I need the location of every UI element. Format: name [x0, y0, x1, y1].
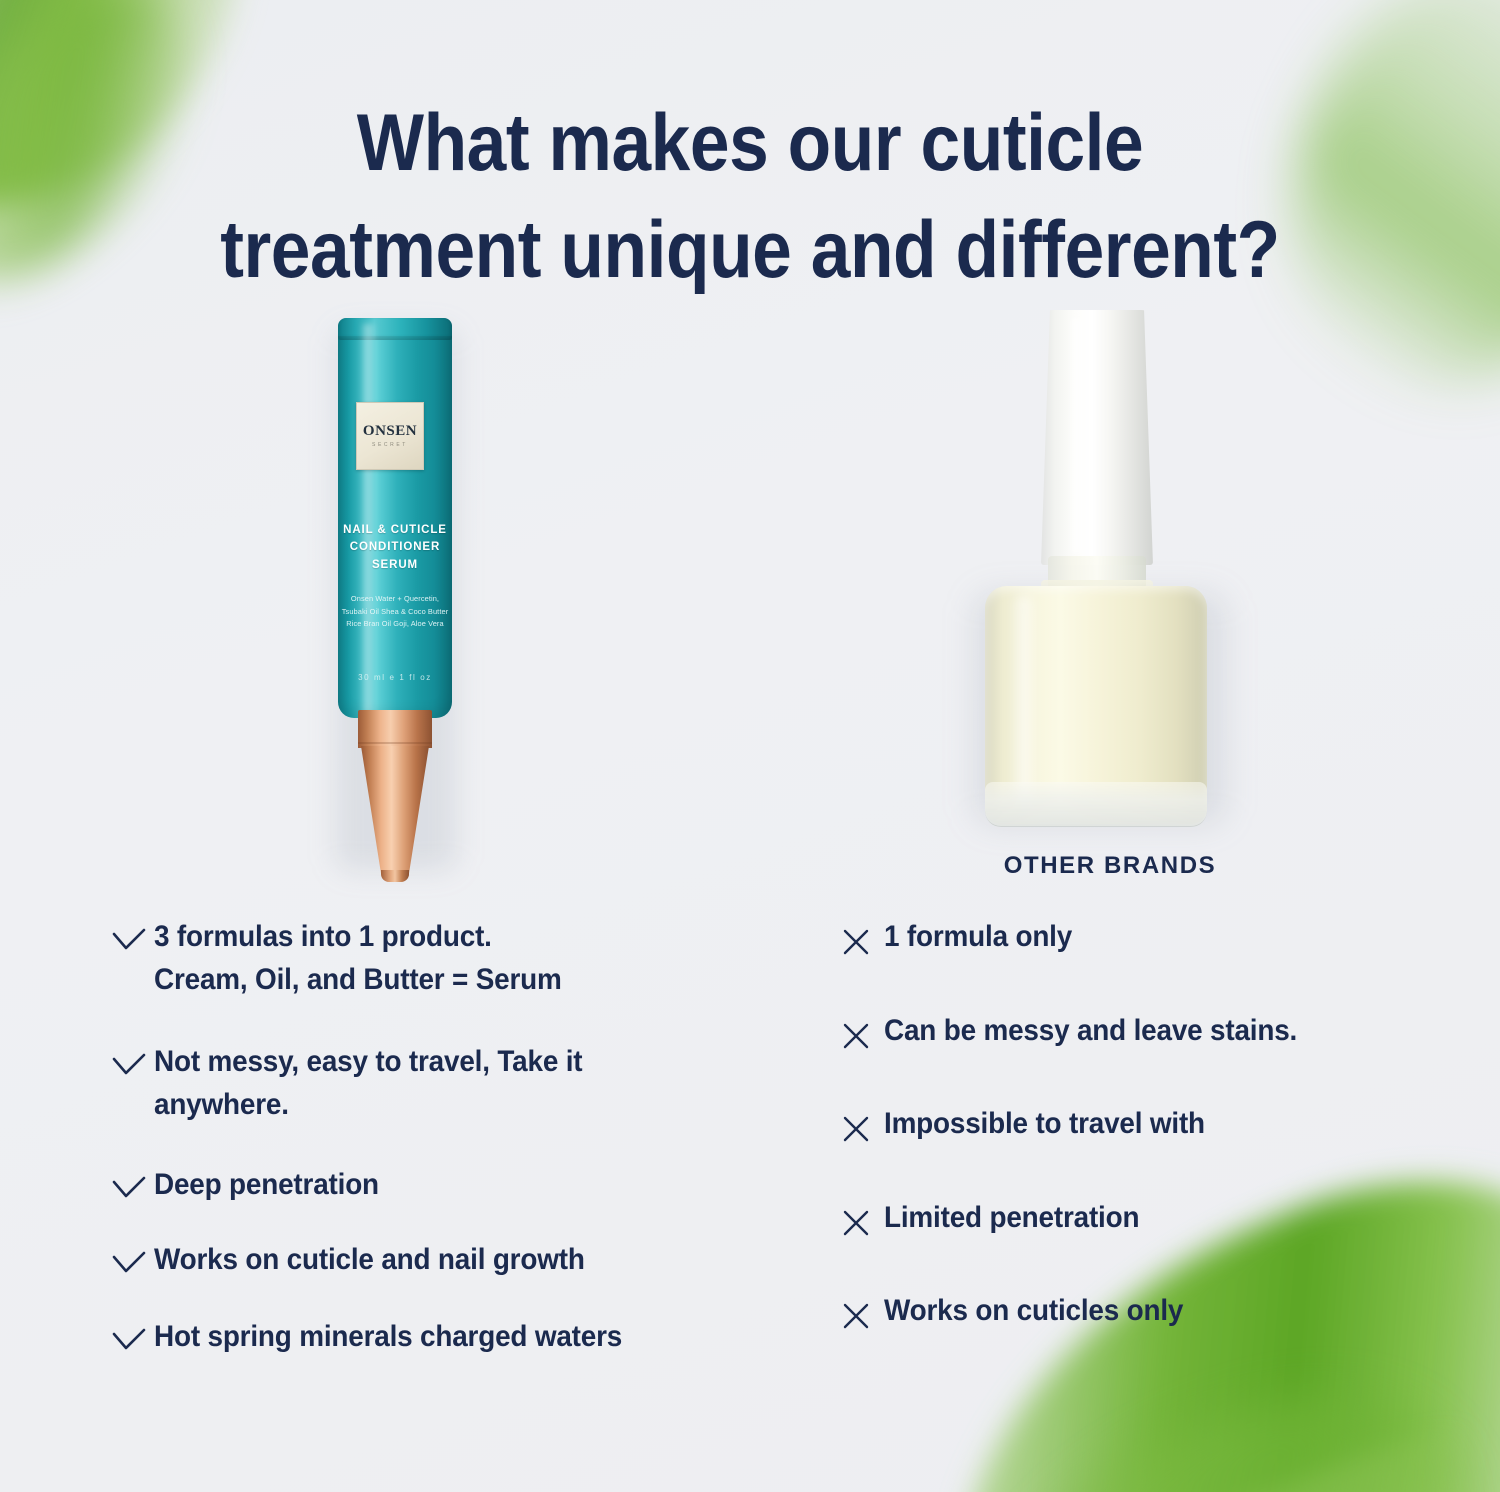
tube-product-name-line-2: CONDITIONER: [338, 539, 452, 556]
other-brands-caption: OTHER BRANDS: [860, 852, 1360, 880]
list-item: 1 formula only: [842, 916, 1462, 959]
list-item-label: 1 formula only: [884, 916, 1072, 959]
list-item: Works on cuticle and nail growth: [112, 1239, 772, 1282]
cross-icon: [842, 1103, 884, 1143]
page-title: What makes our cuticle treatment unique …: [90, 90, 1410, 304]
cross-icon: [842, 1010, 884, 1050]
headline-line-1: What makes our cuticle: [90, 90, 1410, 197]
list-item-label: Can be messy and leave stains.: [884, 1010, 1297, 1053]
list-item-label: Limited penetration: [884, 1197, 1139, 1240]
infographic-canvas: What makes our cuticle treatment unique …: [0, 0, 1500, 1492]
brand-sub-text: SECRET: [372, 442, 408, 448]
comparison-lists: 3 formulas into 1 product. Cream, Oil, a…: [0, 916, 1500, 1416]
other-brand-bottle-image: [945, 304, 1245, 834]
list-item-label: Deep penetration: [154, 1164, 379, 1207]
bottle-cap-gloss: [1069, 318, 1085, 553]
tube-copper-neck: [358, 710, 432, 748]
tube-ingredients-text: Onsen Water + Quercetin, Tsubaki Oil She…: [338, 593, 452, 631]
list-item: Not messy, easy to travel, Take it anywh…: [112, 1041, 772, 1126]
cross-icon: [842, 1197, 884, 1237]
list-item: Deep penetration: [112, 1164, 772, 1207]
list-item: Works on cuticles only: [842, 1290, 1462, 1333]
brand-name-text: ONSEN: [363, 424, 417, 439]
bottle-body-gloss: [1011, 596, 1037, 806]
list-item: 3 formulas into 1 product. Cream, Oil, a…: [112, 916, 772, 1001]
cross-icon: [842, 1290, 884, 1330]
check-icon: [112, 1041, 154, 1077]
tube-product-name-line-3: SERUM: [338, 557, 452, 574]
list-item-label: Impossible to travel with: [884, 1103, 1205, 1146]
other-brands-drawbacks-column: 1 formula onlyCan be messy and leave sta…: [842, 916, 1462, 1384]
list-item: Impossible to travel with: [842, 1103, 1462, 1146]
cross-icon: [842, 916, 884, 956]
tube-nozzle-tip: [381, 870, 409, 882]
check-icon: [112, 1239, 154, 1275]
headline-line-2: treatment unique and different?: [90, 197, 1410, 304]
list-item: Hot spring minerals charged waters: [112, 1316, 772, 1359]
check-icon: [112, 1316, 154, 1352]
list-item: Can be messy and leave stains.: [842, 1010, 1462, 1053]
onsen-logo-label: ONSEN SECRET: [356, 402, 424, 470]
tube-product-name-line-1: NAIL & CUTICLE: [338, 522, 452, 539]
ours-benefits-column: 3 formulas into 1 product. Cream, Oil, a…: [112, 916, 772, 1384]
list-item-label: Hot spring minerals charged waters: [154, 1316, 622, 1359]
tube-product-name-block: NAIL & CUTICLE CONDITIONER SERUM: [338, 522, 452, 574]
list-item-label: Works on cuticles only: [884, 1290, 1183, 1333]
tube-crimp-seal: [338, 318, 452, 340]
list-item: Limited penetration: [842, 1197, 1462, 1240]
tube-volume-text: 30 ml e 1 fl oz: [338, 673, 452, 682]
product-comparison-images: ONSEN SECRET NAIL & CUTICLE CONDITIONER …: [0, 300, 1500, 900]
list-item-label: Not messy, easy to travel, Take it anywh…: [154, 1041, 582, 1126]
check-icon: [112, 1164, 154, 1200]
tube-body: [338, 318, 452, 718]
check-icon: [112, 916, 154, 952]
onsen-serum-tube-image: ONSEN SECRET NAIL & CUTICLE CONDITIONER …: [330, 310, 460, 880]
tube-gloss-highlight: [360, 324, 377, 714]
list-item-label: Works on cuticle and nail growth: [154, 1239, 585, 1282]
list-item-label: 3 formulas into 1 product. Cream, Oil, a…: [154, 916, 562, 1001]
bottle-glass-base: [985, 782, 1207, 827]
bottle-white-cap: [1041, 310, 1153, 565]
